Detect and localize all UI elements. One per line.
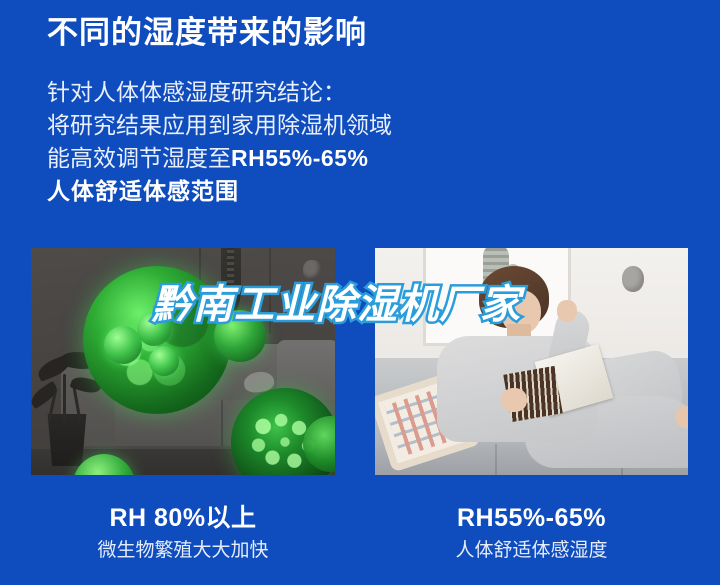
intro-line-4: 人体舒适体感范围 [47, 175, 392, 208]
caption-comfort-humidity: RH55%-65% 人体舒适体感湿度 [375, 503, 688, 566]
poster-root: 不同的湿度带来的影响 针对人体体感湿度研究结论： 将研究结果应用到家用除湿机领域… [0, 0, 720, 585]
right-person-foot [675, 406, 688, 428]
caption-sub-right: 人体舒适体感湿度 [375, 537, 688, 566]
right-person-hand [501, 388, 527, 412]
left-plant-pot [45, 414, 89, 466]
left-sofa-cushion-seam [221, 400, 223, 450]
intro-line-1: 针对人体体感湿度研究结论： [47, 76, 392, 109]
right-sofa-seam-1 [495, 444, 497, 475]
germ-sphere-small-3 [149, 346, 179, 376]
caption-title-right: RH55%-65% [375, 503, 688, 534]
caption-sub-left: 微生物繁殖大大加快 [31, 537, 335, 566]
left-plant-stem-1 [63, 374, 66, 422]
intro-text-block: 针对人体体感湿度研究结论： 将研究结果应用到家用除湿机领域 能高效调节湿度至RH… [47, 76, 392, 208]
intro-line-3-prefix: 能高效调节湿度至 [47, 145, 231, 171]
page-title: 不同的湿度带来的影响 [47, 16, 367, 50]
intro-line-2: 将研究结果应用到家用除湿机领域 [47, 109, 392, 142]
intro-line-3-range: RH55%-65% [231, 145, 368, 171]
caption-high-humidity: RH 80%以上 微生物繁殖大大加快 [31, 503, 335, 566]
caption-title-left: RH 80%以上 [31, 503, 335, 534]
right-wall-knob [622, 266, 644, 292]
intro-line-3: 能高效调节湿度至RH55%-65% [47, 142, 392, 175]
right-person-hand-upper [557, 300, 577, 322]
watermark-text: 黔南工业除湿机厂家 [152, 272, 521, 330]
